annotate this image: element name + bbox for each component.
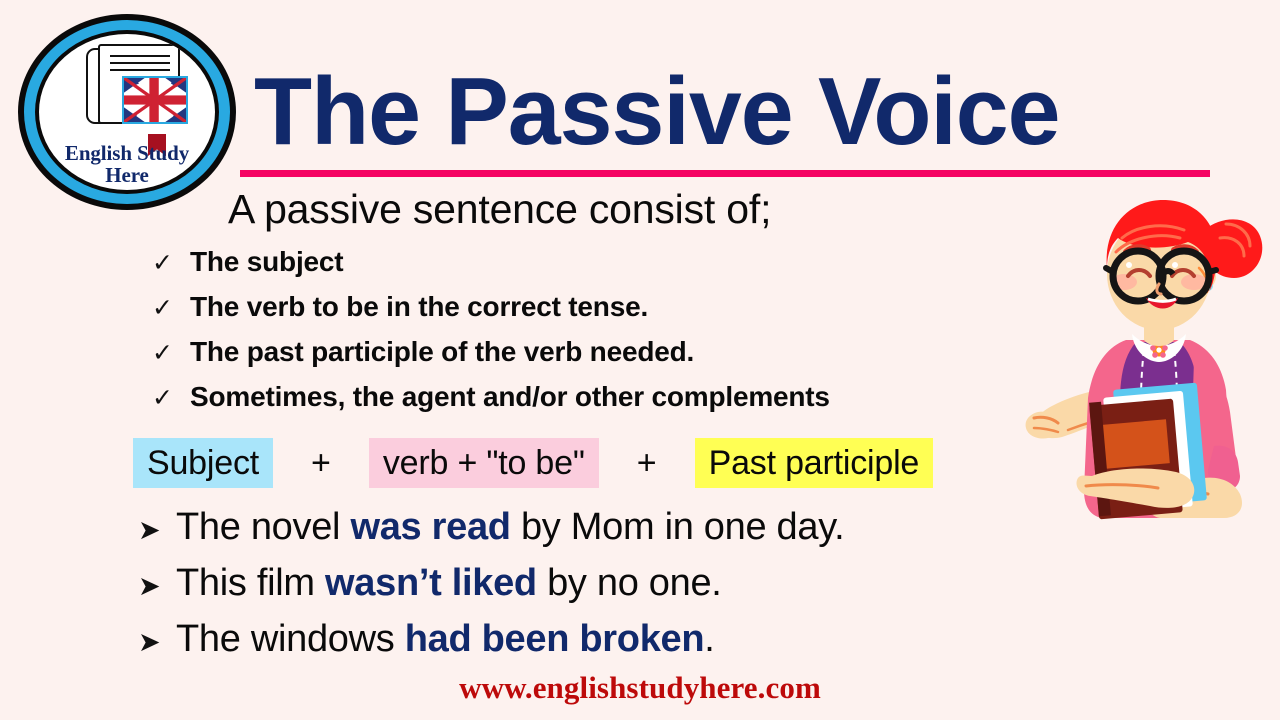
- check-icon: ✓: [152, 385, 190, 410]
- example-passive-verb: wasn’t liked: [325, 562, 537, 604]
- check-icon: ✓: [152, 250, 190, 275]
- uk-flag-icon: [122, 76, 188, 124]
- logo-text-line-2: Here: [39, 164, 215, 186]
- page-title: The Passive Voice: [254, 62, 1204, 162]
- example-sentence: This film wasn’t liked by no one.: [176, 562, 722, 605]
- arrow-bullet-icon: ➤: [138, 573, 176, 600]
- teacher-with-books-illustration: [1008, 190, 1280, 520]
- checklist-item: ✓ The past participle of the verb needed…: [152, 336, 1012, 381]
- book-text-line: [110, 69, 170, 71]
- passive-formula-row: Subject + verb + "to be" + Past particip…: [133, 438, 933, 488]
- checklist-item: ✓ The verb to be in the correct tense.: [152, 291, 1012, 336]
- checklist-item: ✓ The subject: [152, 246, 1012, 291]
- example-passive-verb: was read: [350, 506, 510, 548]
- formula-chip-verb-to-be: verb + "to be": [369, 438, 599, 488]
- example-text-before: The windows: [176, 618, 405, 660]
- arrow-bullet-icon: ➤: [138, 517, 176, 544]
- checklist-item-label: Sometimes, the agent and/or other comple…: [190, 381, 830, 413]
- check-icon: ✓: [152, 340, 190, 365]
- poster-canvas: English Study Here The Passive Voice A p…: [0, 0, 1280, 720]
- example-text-before: This film: [176, 562, 325, 604]
- check-icon: ✓: [152, 295, 190, 320]
- formula-chip-past-participle: Past participle: [695, 438, 934, 488]
- example-item: ➤ The novel was read by Mom in one day.: [138, 506, 1038, 562]
- example-passive-verb: had been broken: [405, 618, 705, 660]
- title-underline-rule: [240, 170, 1210, 177]
- book-text-line: [110, 55, 170, 57]
- example-sentence: The novel was read by Mom in one day.: [176, 506, 844, 549]
- formula-plus-1: +: [273, 438, 369, 488]
- example-text-after: by Mom in one day.: [511, 506, 845, 548]
- checklist-item-label: The verb to be in the correct tense.: [190, 291, 648, 323]
- logo-face: English Study Here: [39, 34, 215, 190]
- logo-text-line-1: English Study: [39, 142, 215, 164]
- example-item: ➤ This film wasn’t liked by no one.: [138, 562, 1038, 618]
- book-with-uk-flag-icon: [86, 42, 182, 130]
- arrow-bullet-icon: ➤: [138, 629, 176, 656]
- footer-url[interactable]: www.englishstudyhere.com: [0, 670, 1280, 706]
- book-page-shape: [98, 44, 180, 124]
- english-study-here-logo[interactable]: English Study Here: [18, 14, 236, 210]
- example-sentence: The windows had been broken.: [176, 618, 715, 661]
- book-text-line: [110, 62, 170, 64]
- example-item: ➤ The windows had been broken.: [138, 618, 1038, 674]
- subtitle: A passive sentence consist of;: [228, 186, 771, 232]
- checklist: ✓ The subject ✓ The verb to be in the co…: [152, 246, 1012, 426]
- logo-text: English Study Here: [39, 142, 215, 187]
- formula-chip-subject: Subject: [133, 438, 273, 488]
- checklist-item-label: The past participle of the verb needed.: [190, 336, 694, 368]
- checklist-item-label: The subject: [190, 246, 343, 278]
- example-text-before: The novel: [176, 506, 350, 548]
- example-text-after: by no one.: [537, 562, 722, 604]
- example-text-after: .: [704, 618, 714, 660]
- checklist-item: ✓ Sometimes, the agent and/or other comp…: [152, 381, 1012, 426]
- example-sentences: ➤ The novel was read by Mom in one day. …: [138, 506, 1038, 674]
- formula-plus-2: +: [599, 438, 695, 488]
